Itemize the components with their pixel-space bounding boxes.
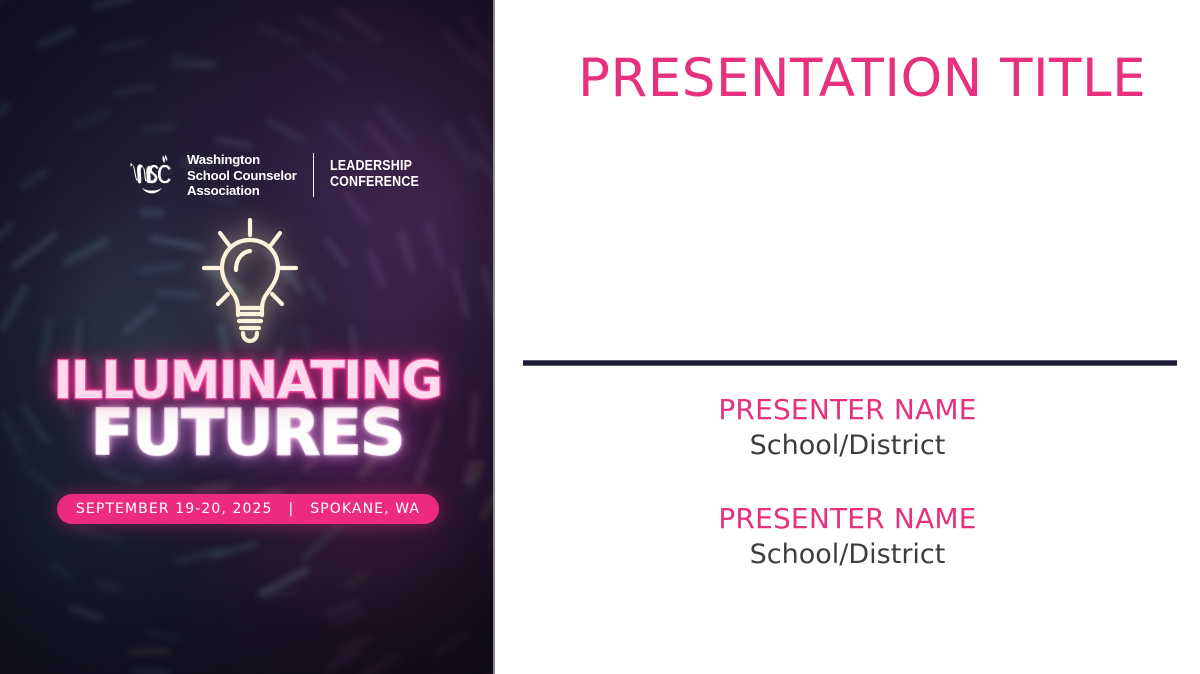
swirl-dash <box>0 0 5 20</box>
swirl-dash <box>0 282 31 335</box>
swirl-dash <box>396 229 417 275</box>
presenter-block: PRESENTER NAMESchool/District <box>495 392 1200 463</box>
conference-line-1: LEADERSHIP <box>330 158 412 174</box>
wordmark-line-illuminating: ILLUMINATING <box>7 355 487 407</box>
swirl-dash <box>0 100 12 133</box>
swirl-dash <box>47 560 75 582</box>
swirl-dash <box>324 598 361 619</box>
swirl-dash <box>67 603 106 623</box>
swirl-dash <box>450 266 471 320</box>
swirl-dash <box>214 136 254 150</box>
swirl-dash <box>140 121 178 136</box>
banner-dates: SEPTEMBER 19-20, 2025 <box>76 501 273 517</box>
banner-location: SPOKANE, WA <box>310 501 420 517</box>
swirl-dash <box>73 526 124 546</box>
swirl-dash <box>300 520 345 563</box>
swirl-dash <box>174 546 227 565</box>
swirl-dash <box>322 647 363 672</box>
swirl-dash <box>265 117 308 145</box>
swirl-dash <box>321 236 350 269</box>
wsca-name-line-1: Washington <box>187 152 260 167</box>
swirl-dash <box>130 666 171 674</box>
swirl-dash <box>114 0 162 1</box>
swirl-dash <box>61 236 112 269</box>
swirl-dash <box>471 48 495 98</box>
page-title[interactable]: PRESENTATION TITLE <box>578 50 1178 107</box>
wsca-name-line-2: School Counselor <box>187 168 297 183</box>
lockup-vertical-rule <box>313 153 315 197</box>
slide-content-area: PRESENTATION TITLE PRESENTER NAMESchool/… <box>495 0 1200 674</box>
swirl-dash <box>210 540 260 560</box>
swirl-dash <box>359 652 401 674</box>
banner-separator: | <box>273 501 311 517</box>
swirl-dash <box>17 166 49 192</box>
swirl-dash <box>366 248 388 289</box>
wsca-logo-lockup: Washington School Counselor Association … <box>128 152 434 199</box>
date-location-banner: SEPTEMBER 19-20, 2025 | SPOKANE, WA <box>57 494 439 524</box>
swirl-dash <box>303 274 330 306</box>
swirl-dash <box>72 108 111 131</box>
swirl-dash <box>439 27 486 76</box>
swirl-dash <box>336 634 375 655</box>
swirl-dash <box>295 14 344 43</box>
swirl-dash <box>335 5 383 44</box>
swirl-dash <box>19 461 61 498</box>
swirl-dash <box>442 122 479 173</box>
swirl-dash <box>432 630 470 658</box>
swirl-dash <box>10 231 59 272</box>
title-divider-rule <box>523 360 1177 366</box>
presenter-organization[interactable]: School/District <box>495 537 1200 572</box>
swirl-dash <box>0 220 16 245</box>
swirl-dash <box>100 38 146 52</box>
wsca-name-line-3: Association <box>187 183 260 198</box>
swirl-dash <box>0 92 3 121</box>
swirl-dash <box>101 468 145 486</box>
wsca-organization-name: Washington School Counselor Association <box>187 152 297 199</box>
swirl-dash <box>302 48 349 84</box>
swirl-dash <box>136 261 185 276</box>
swirl-dash <box>113 83 155 96</box>
swirl-dash <box>89 0 135 11</box>
swirl-dash <box>438 0 484 20</box>
swirl-dash <box>257 564 312 598</box>
swirl-dash <box>473 151 495 202</box>
swirl-dash <box>170 54 218 68</box>
swirl-dash <box>266 587 299 601</box>
swirl-dash <box>94 578 122 594</box>
presenter-name[interactable]: PRESENTER NAME <box>495 392 1200 428</box>
swirl-dash <box>466 111 495 164</box>
presenter-name[interactable]: PRESENTER NAME <box>495 501 1200 537</box>
presentation-title-slide: Washington School Counselor Association … <box>0 0 1200 674</box>
presenter-list: PRESENTER NAMESchool/DistrictPRESENTER N… <box>495 392 1200 572</box>
presenter-organization[interactable]: School/District <box>495 428 1200 463</box>
swirl-dash <box>374 103 417 148</box>
swirl-dash <box>0 0 23 20</box>
swirl-dash <box>332 609 366 627</box>
conference-name: LEADERSHIP CONFERENCE <box>330 159 419 191</box>
swirl-dash <box>35 25 78 51</box>
event-wordmark: ILLUMINATING FUTURES <box>0 355 495 464</box>
swirl-dash <box>342 567 371 591</box>
swirl-dash <box>422 220 447 271</box>
swirl-dash <box>138 209 165 217</box>
conference-line-2: CONFERENCE <box>330 174 419 190</box>
swirl-dash <box>128 646 171 656</box>
swirl-dash <box>171 63 215 70</box>
swirl-dash <box>255 23 303 48</box>
swirl-dash <box>460 13 495 63</box>
wsca-monogram-icon <box>128 152 174 198</box>
presenter-block: PRESENTER NAMESchool/District <box>495 501 1200 572</box>
swirl-dash <box>146 629 182 642</box>
swirl-dash <box>121 303 158 336</box>
lightbulb-icon <box>196 216 304 346</box>
